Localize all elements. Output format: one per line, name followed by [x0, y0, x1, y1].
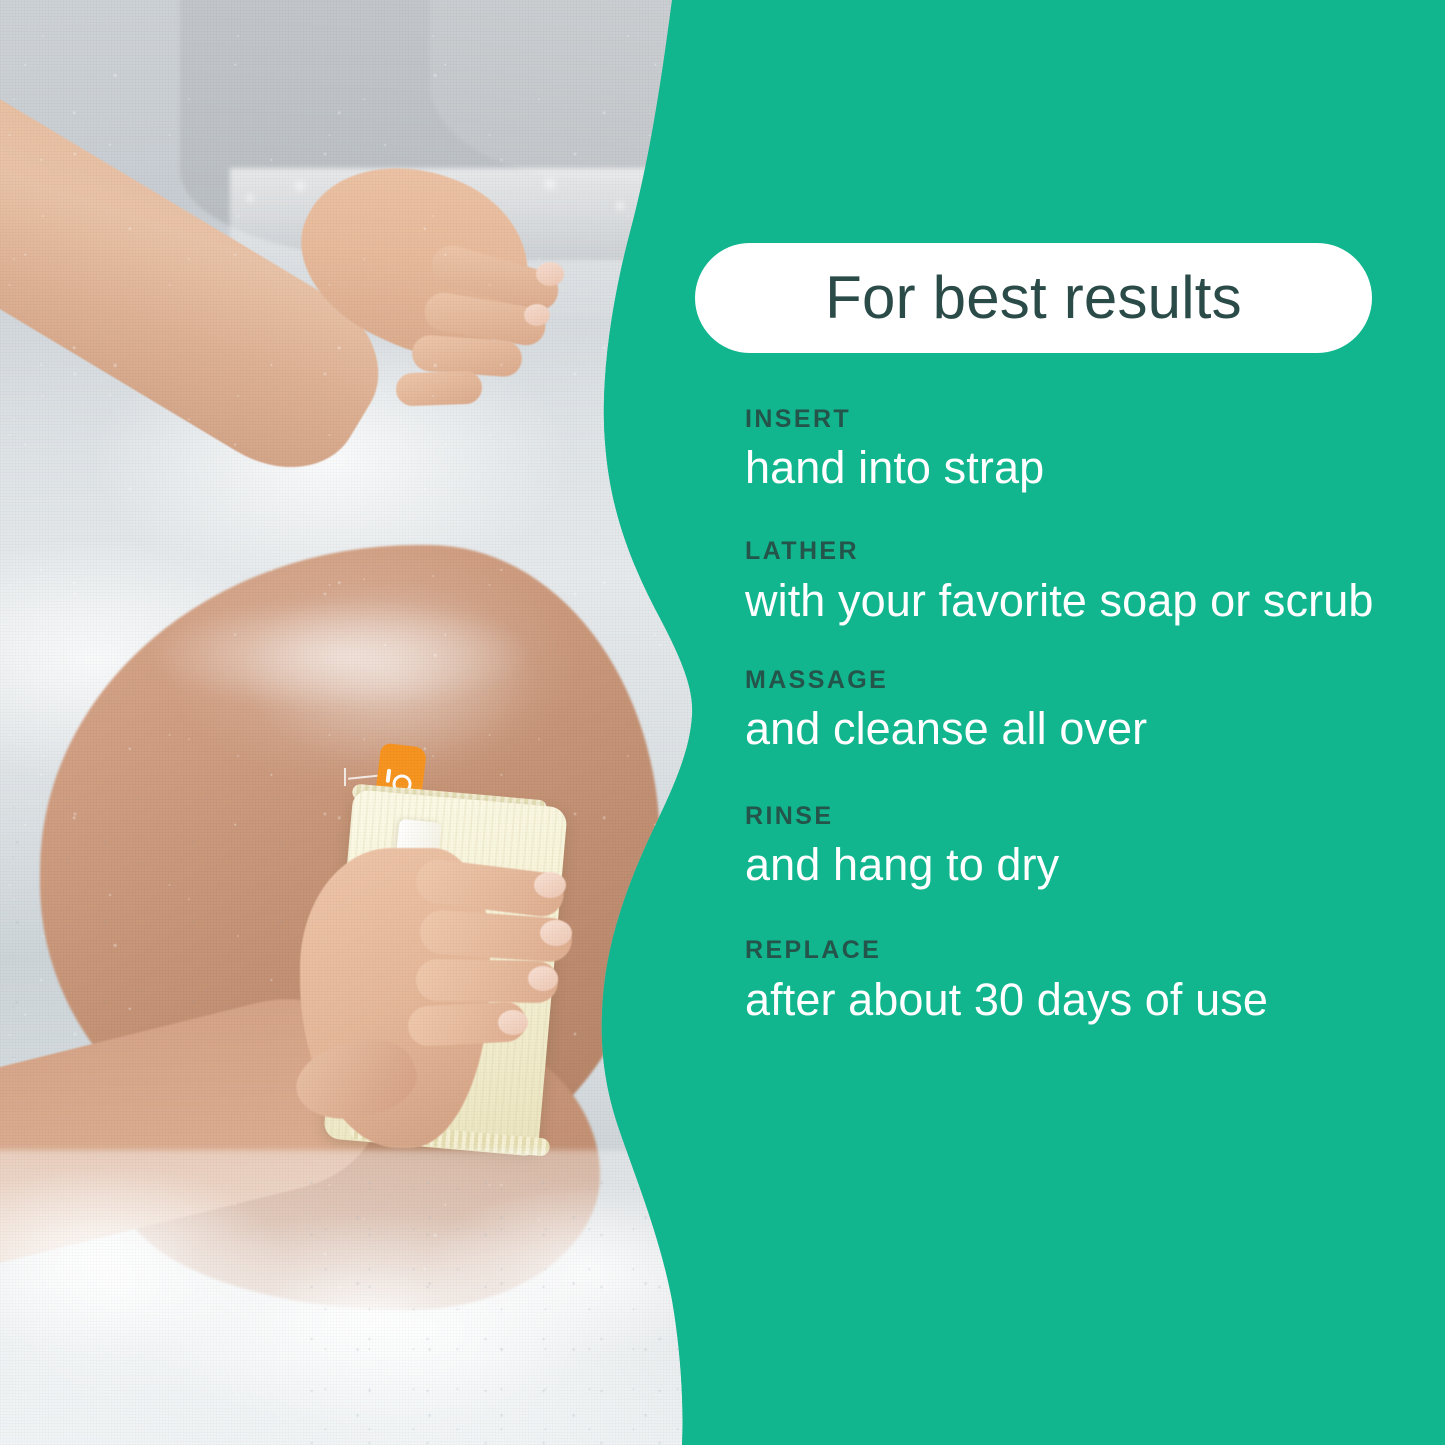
page-title: For best results: [825, 268, 1242, 328]
step-text-insert: hand into strap: [745, 441, 1395, 494]
step-replace: REPLACE after about 30 days of use: [745, 937, 1395, 1025]
step-text-lather: with your favorite soap or scrub: [745, 574, 1395, 627]
step-text-rinse: and hang to dry: [745, 838, 1395, 891]
instructions-content: For best results INSERT hand into strap …: [695, 0, 1445, 1445]
step-label-massage: MASSAGE: [745, 667, 1395, 693]
product-instructions-infographic: For best results INSERT hand into strap …: [0, 0, 1445, 1445]
step-label-replace: REPLACE: [745, 937, 1395, 963]
step-label-insert: INSERT: [745, 406, 1395, 432]
step-lather: LATHER with your favorite soap or scrub: [745, 538, 1395, 626]
step-massage: MASSAGE and cleanse all over: [745, 667, 1395, 755]
step-text-replace: after about 30 days of use: [745, 973, 1395, 1026]
steps-list: INSERT hand into strap LATHER with your …: [745, 406, 1395, 1026]
step-label-rinse: RINSE: [745, 803, 1395, 829]
title-pill: For best results: [695, 243, 1372, 353]
step-label-lather: LATHER: [745, 538, 1395, 564]
step-text-massage: and cleanse all over: [745, 702, 1395, 755]
step-rinse: RINSE and hang to dry: [745, 803, 1395, 891]
step-insert: INSERT hand into strap: [745, 406, 1395, 494]
